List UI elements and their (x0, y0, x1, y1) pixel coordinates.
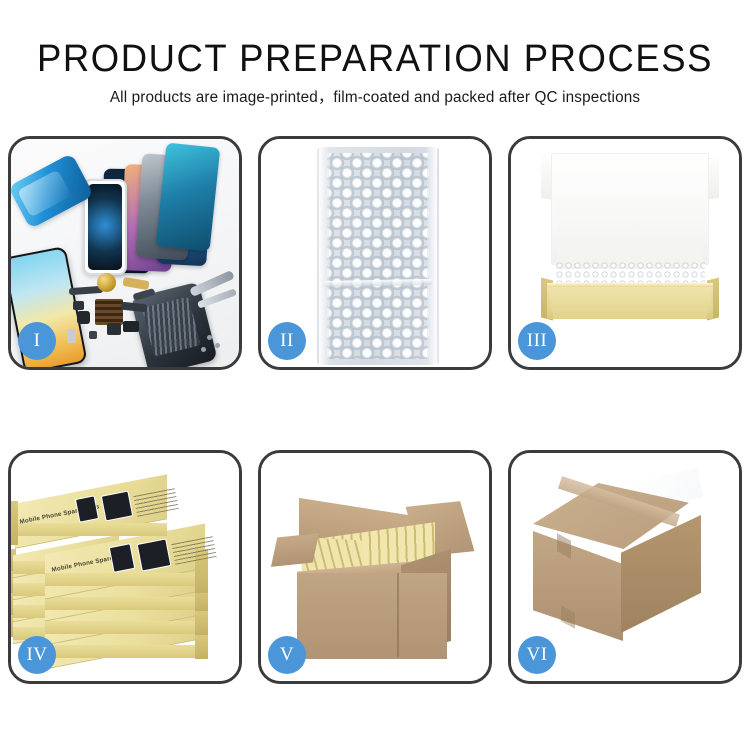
phone-fan-1-icon (156, 142, 221, 251)
process-step-grid: I II (8, 136, 742, 684)
mailer-base-front-face (547, 285, 713, 319)
speaker-icon (123, 321, 139, 332)
carton-front-face (297, 573, 447, 659)
box-front (45, 573, 205, 586)
step-badge-1: I (18, 322, 56, 360)
box-side (11, 501, 18, 545)
sealed-carton-left-face (533, 531, 623, 641)
pouch-right-seam (427, 147, 437, 365)
box-thumbnail-b2 (137, 538, 172, 571)
screw-2-icon (215, 343, 220, 348)
vibration-motor-icon (97, 273, 116, 292)
camera-module-a-icon (77, 311, 90, 324)
process-step-panel-4: Mobile Phone Spare Parts Mobile Phone Sp… (8, 450, 242, 684)
stacked-box-printed-1: Mobile Phone Spare Parts (15, 489, 167, 533)
process-step-panel-1: I (8, 136, 242, 370)
blue-film-icon (11, 153, 94, 229)
process-step-panel-6: VI (508, 450, 742, 684)
connector-icon (107, 323, 121, 335)
page-subtitle: All products are image-printed，film-coat… (6, 88, 745, 108)
box-front (45, 645, 205, 658)
process-step-panel-5: V (258, 450, 492, 684)
box-thumbnail-b1 (101, 491, 133, 522)
screw-1-icon (207, 335, 212, 340)
box-front (45, 597, 205, 610)
small-part-icon (89, 331, 97, 339)
box-front (15, 523, 167, 536)
box-side (195, 611, 208, 635)
mailer-inner-wall (557, 195, 703, 269)
mailer-base-rim (547, 283, 713, 287)
box-thumbnail-a2 (109, 543, 136, 573)
pouch-left-seam (319, 147, 329, 365)
step-badge-3: III (518, 322, 556, 360)
header: PRODUCT PREPARATION PROCESS All products… (0, 36, 750, 108)
flex-cable-d-icon (121, 302, 148, 313)
step-badge-4: IV (18, 636, 56, 674)
process-step-panel-2: II (258, 136, 492, 370)
bubble-wrap-pouch-icon (317, 147, 439, 365)
page-title: PRODUCT PREPARATION PROCESS (15, 36, 735, 82)
box-front (45, 621, 205, 634)
box-side (195, 635, 208, 659)
step-badge-5: V (268, 636, 306, 674)
product-preparation-infographic: PRODUCT PREPARATION PROCESS All products… (0, 0, 750, 750)
stacked-box-printed-2: Mobile Phone Spare Parts (45, 539, 205, 583)
carton-corner-seam (397, 573, 399, 657)
button-strip-icon (67, 329, 76, 343)
step-badge-6: VI (518, 636, 556, 674)
box-thumbnail-a1 (75, 495, 99, 522)
flex-cable-b-icon (122, 277, 149, 290)
step-badge-2: II (268, 322, 306, 360)
chip-grid-icon (95, 299, 123, 325)
screw-3-icon (201, 347, 206, 352)
process-step-panel-3: III (508, 136, 742, 370)
carton-left-flap (271, 533, 319, 567)
camera-module-b-icon (73, 301, 84, 310)
bubble-pattern (327, 153, 429, 359)
